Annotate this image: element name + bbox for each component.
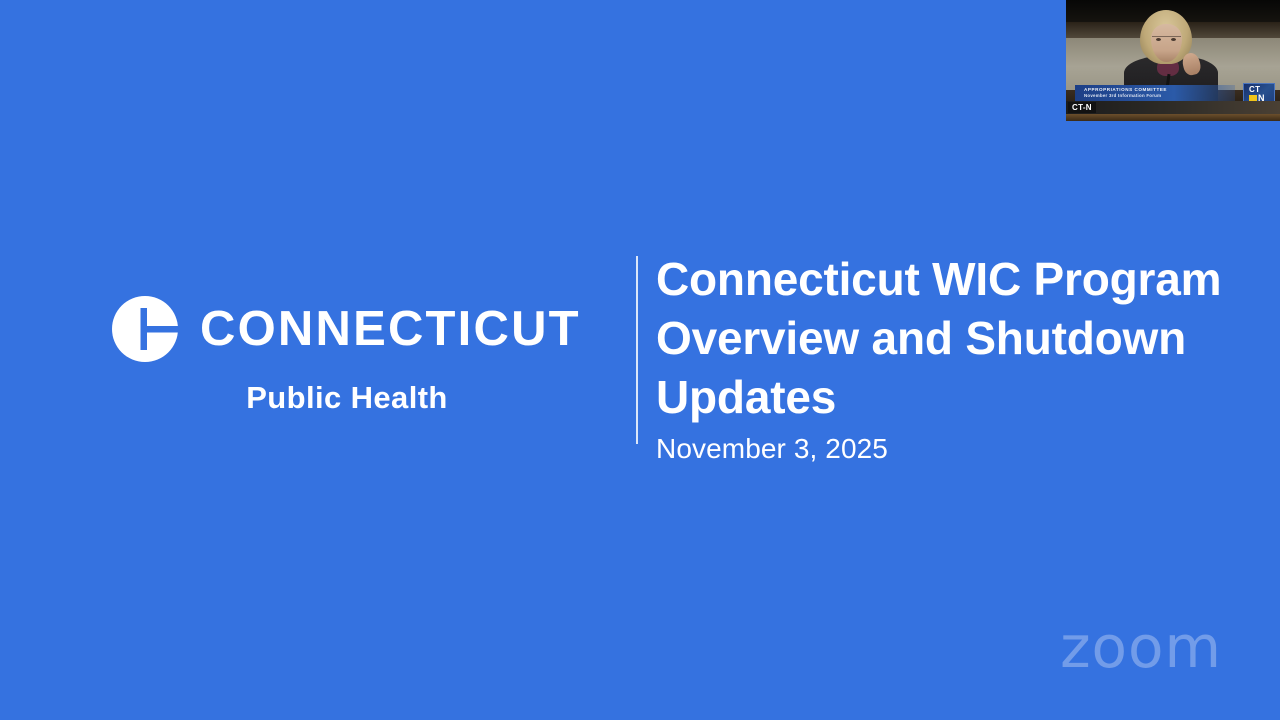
lower-third-line-1: APPROPRIATIONS COMMITTEE	[1084, 87, 1167, 92]
brand-sub-wordmark: Public Health	[112, 382, 582, 413]
speaker-eye-left	[1156, 38, 1161, 41]
speaker-eye-right	[1171, 38, 1176, 41]
slide-date: November 3, 2025	[656, 434, 1226, 465]
connecticut-state-mark-icon	[112, 296, 178, 362]
broadcast-lower-third: APPROPRIATIONS COMMITTEE November 3rd In…	[1075, 85, 1235, 101]
video-tile-left-edge	[1062, 0, 1066, 121]
zoom-shared-screen: CONNECTICUT Public Health Connecticut WI…	[0, 0, 1280, 720]
lower-third-line-2: November 3rd Information Forum	[1084, 93, 1161, 98]
brand-wordmark: CONNECTICUT	[200, 305, 581, 354]
slide-title-block: Connecticut WIC Program Overview and Shu…	[656, 250, 1226, 465]
ctn-corner-tag-text: CT-N	[1072, 104, 1092, 112]
brand-lockup: CONNECTICUT Public Health	[112, 296, 582, 416]
brand-lockup-row: CONNECTICUT	[112, 296, 582, 362]
slide-title: Connecticut WIC Program Overview and Shu…	[656, 250, 1226, 427]
ctn-corner-tag: CT-N	[1068, 102, 1096, 113]
zoom-watermark: zoom	[1060, 618, 1222, 676]
title-divider-rule	[636, 256, 638, 444]
participant-video-tile[interactable]: APPROPRIATIONS COMMITTEE November 3rd In…	[1062, 0, 1280, 121]
video-tile-baseline	[1062, 114, 1280, 121]
